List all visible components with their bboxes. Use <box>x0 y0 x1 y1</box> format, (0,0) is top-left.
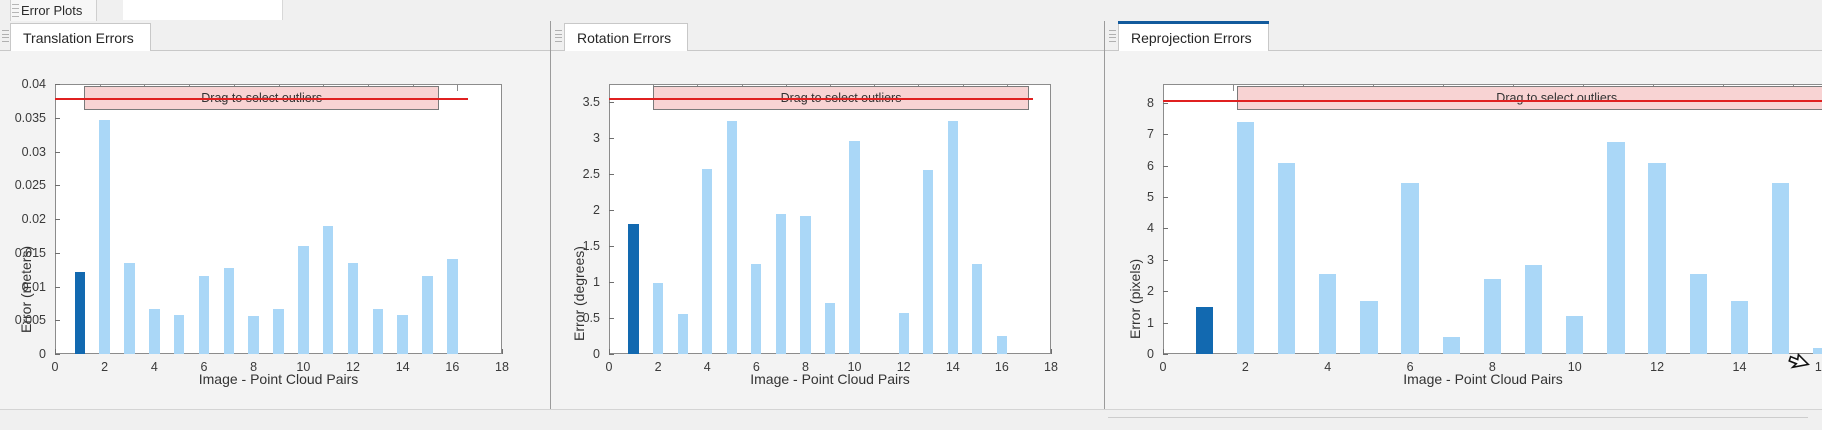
chart-3-y-tick-label: 0 <box>1105 347 1154 361</box>
chart-1-bar[interactable] <box>298 246 308 354</box>
chart-1-x-tick-label: 14 <box>396 360 410 374</box>
chart-2-y-tick-label: 3 <box>551 131 600 145</box>
chart-rotation-errors: Error (degrees) Image - Point Cloud Pair… <box>551 51 1104 409</box>
chart-2-x-tick-label: 8 <box>802 360 809 374</box>
chart-2-y-tick-mark <box>609 102 614 103</box>
tab-error-plots[interactable]: Error Plots <box>10 0 97 21</box>
tab-error-plots-label: Error Plots <box>21 3 82 18</box>
panel-1-tabrow: Translation Errors <box>0 21 550 51</box>
chart-2-y-tick-label: 3.5 <box>551 95 600 109</box>
chart-2-bar[interactable] <box>800 216 810 354</box>
tab-reprojection-errors-label: Reprojection Errors <box>1131 30 1252 46</box>
chart-3-bar[interactable] <box>1278 163 1295 354</box>
chart-3-bar[interactable] <box>1360 301 1377 354</box>
chart-2-bar[interactable] <box>751 264 761 354</box>
chart-1-bar[interactable] <box>323 226 333 354</box>
chart-2-x-tick-label: 14 <box>946 360 960 374</box>
chart-3-bar[interactable] <box>1484 279 1501 354</box>
chart-3-y-tick-mark <box>1163 103 1168 104</box>
chart-3-y-tick-label: 5 <box>1105 190 1154 204</box>
chart-3-y-tick-label: 1 <box>1105 316 1154 330</box>
chart-1-x-tick-label: 8 <box>250 360 257 374</box>
chart-2-y-tick-label: 0.5 <box>551 311 600 325</box>
panel-rotation-errors: Rotation Errors Error (degrees) Image - … <box>551 21 1105 409</box>
drag-grip-icon[interactable] <box>12 4 19 17</box>
chart-2-y-tick-label: 0 <box>551 347 600 361</box>
chart-2-x-tick-mark <box>1051 349 1052 354</box>
chart-2-bar[interactable] <box>972 264 982 354</box>
chart-3-x-tick-label: 0 <box>1160 360 1167 374</box>
chart-2-bar[interactable] <box>727 121 737 354</box>
error-plot-panels: Translation Errors Error (meters) Image … <box>0 21 1822 409</box>
chart-3-x-tick-mark <box>1163 349 1164 354</box>
chart-3-bar[interactable] <box>1690 274 1707 354</box>
chart-1-bar[interactable] <box>248 316 258 354</box>
chart-1-y-tick-mark <box>55 320 60 321</box>
chart-3-bar[interactable] <box>1319 274 1336 354</box>
chart-3-y-tick-mark <box>1163 166 1168 167</box>
chart-1-y-tick-label: 0.01 <box>0 280 46 294</box>
chart-3-y-tick-label: 6 <box>1105 159 1154 173</box>
chart-1-x-tick-label: 0 <box>52 360 59 374</box>
chart-3-y-tick-label: 2 <box>1105 284 1154 298</box>
chart-1-bar[interactable] <box>124 263 134 354</box>
chart-1-x-tick-label: 6 <box>201 360 208 374</box>
chart-3-x-axis-label: Image - Point Cloud Pairs <box>1163 371 1803 387</box>
bottom-strip <box>0 409 1822 430</box>
chart-1-bar[interactable] <box>199 276 209 354</box>
chart-3-y-tick-label: 4 <box>1105 221 1154 235</box>
chart-1-bar[interactable] <box>447 259 457 354</box>
chart-2-x-tick-label: 4 <box>704 360 711 374</box>
chart-3-x-tick-label: 10 <box>1568 360 1582 374</box>
chart-1-x-tick-mark <box>55 349 56 354</box>
chart-3-bar[interactable] <box>1648 163 1665 354</box>
chart-1-y-tick-label: 0.03 <box>0 145 46 159</box>
chart-2-y-tick-mark <box>609 354 614 355</box>
panel-reprojection-errors: Reprojection Errors Error (pixels) Image… <box>1105 21 1822 409</box>
tab-reprojection-errors[interactable]: Reprojection Errors <box>1118 23 1269 51</box>
chart-1-x-axis-label: Image - Point Cloud Pairs <box>55 371 502 387</box>
chart-2-bar[interactable] <box>702 169 712 354</box>
chart-3-x-tick-label: 12 <box>1650 360 1664 374</box>
mouse-cursor-icon <box>1786 352 1812 382</box>
chart-3-bar[interactable] <box>1813 348 1822 354</box>
horizontal-scrollbar[interactable] <box>1108 417 1808 425</box>
chart-1-x-tick-label: 4 <box>151 360 158 374</box>
chart-2-bar[interactable] <box>628 224 638 354</box>
chart-1-y-tick-label: 0.005 <box>0 313 46 327</box>
chart-1-threshold-line[interactable] <box>55 98 468 100</box>
tab-translation-errors-label: Translation Errors <box>23 30 134 46</box>
chart-3-bar[interactable] <box>1237 122 1254 354</box>
chart-2-y-tick-mark <box>609 318 614 319</box>
chart-2-bar[interactable] <box>899 313 909 354</box>
chart-1-y-tick-mark <box>55 253 60 254</box>
chart-2-x-tick-label: 6 <box>753 360 760 374</box>
chart-3-y-tick-label: 3 <box>1105 253 1154 267</box>
chart-3-bar[interactable] <box>1607 142 1624 354</box>
chart-2-x-axis-label: Image - Point Cloud Pairs <box>609 371 1051 387</box>
chart-3-x-tick-label: 8 <box>1489 360 1496 374</box>
chart-1-y-tick-mark <box>55 219 60 220</box>
tab-rotation-errors-label: Rotation Errors <box>577 30 671 46</box>
chart-reprojection-errors: Error (pixels) Image - Point Cloud Pairs… <box>1105 51 1822 409</box>
chart-1-bar[interactable] <box>397 315 407 354</box>
chart-1-bar[interactable] <box>99 120 109 354</box>
chart-1-y-tick-mark <box>55 118 60 119</box>
chart-1-y-tick-label: 0.02 <box>0 212 46 226</box>
chart-1-x-tick-label: 12 <box>346 360 360 374</box>
chart-1-bar[interactable] <box>273 309 283 354</box>
chart-2-x-tick-label: 0 <box>606 360 613 374</box>
error-plots-tabstrip: Error Plots <box>0 0 1822 21</box>
chart-2-x-tick-label: 12 <box>897 360 911 374</box>
chart-2-y-tick-mark <box>609 210 614 211</box>
chart-3-threshold-line[interactable] <box>1163 100 1822 102</box>
chart-3-bar[interactable] <box>1772 183 1789 354</box>
chart-3-bar[interactable] <box>1443 337 1460 354</box>
chart-1-bar[interactable] <box>348 263 358 354</box>
chart-3-x-tick-label: 4 <box>1324 360 1331 374</box>
chart-3-bar[interactable] <box>1731 301 1748 354</box>
chart-2-x-tick-label: 16 <box>995 360 1009 374</box>
chart-2-y-tick-mark <box>609 246 614 247</box>
chart-1-y-tick-label: 0.025 <box>0 178 46 192</box>
tab-rotation-errors[interactable]: Rotation Errors <box>564 23 688 51</box>
chart-2-y-tick-label: 1 <box>551 275 600 289</box>
chart-2-bar[interactable] <box>997 336 1007 354</box>
chart-3-y-tick-mark <box>1163 197 1168 198</box>
chart-1-x-tick-label: 18 <box>495 360 509 374</box>
chart-2-y-tick-label: 2.5 <box>551 167 600 181</box>
chart-translation-errors: Error (meters) Image - Point Cloud Pairs… <box>0 51 550 409</box>
chart-3-y-tick-mark <box>1163 291 1168 292</box>
chart-2-bar[interactable] <box>776 214 786 354</box>
chart-2-x-tick-label: 10 <box>848 360 862 374</box>
chart-1-x-tick-label: 16 <box>445 360 459 374</box>
chart-1-bar[interactable] <box>373 309 383 354</box>
chart-1-y-tick-mark <box>55 354 60 355</box>
panel-3-drag-grip-icon[interactable] <box>1109 30 1116 42</box>
chart-2-y-tick-mark <box>609 282 614 283</box>
panel-translation-errors: Translation Errors Error (meters) Image … <box>0 21 551 409</box>
chart-3-x-tick-label: 2 <box>1242 360 1249 374</box>
panel-2-drag-grip-icon[interactable] <box>555 30 562 42</box>
chart-2-x-tick-mark <box>609 349 610 354</box>
chart-3-x-tick-label: 14 <box>1733 360 1747 374</box>
chart-1-x-tick-label: 2 <box>101 360 108 374</box>
panel-3-tabrow: Reprojection Errors <box>1105 21 1822 51</box>
chart-2-x-tick-label: 18 <box>1044 360 1058 374</box>
chart-2-bar[interactable] <box>849 141 859 354</box>
chart-1-y-tick-mark <box>55 287 60 288</box>
chart-3-y-tick-mark <box>1163 354 1168 355</box>
chart-3-bar[interactable] <box>1566 316 1583 354</box>
chart-1-y-tick-label: 0 <box>0 347 46 361</box>
chart-3-y-tick-mark <box>1163 323 1168 324</box>
chart-3-bar[interactable] <box>1196 307 1213 354</box>
chart-2-y-tick-label: 2 <box>551 203 600 217</box>
chart-3-outlier-slider[interactable]: Drag to select outliers <box>1237 86 1822 110</box>
chart-1-bar[interactable] <box>75 272 85 354</box>
chart-2-bar[interactable] <box>678 314 688 354</box>
chart-3-x-tick-label: 6 <box>1407 360 1414 374</box>
panel-1-drag-grip-icon[interactable] <box>2 30 9 42</box>
chart-1-bar[interactable] <box>149 309 159 354</box>
chart-2-y-tick-label: 1.5 <box>551 239 600 253</box>
chart-3-y-tick-label: 8 <box>1105 96 1154 110</box>
chart-3-y-tick-mark <box>1163 260 1168 261</box>
chart-1-y-tick-mark <box>55 152 60 153</box>
chart-1-y-tick-label: 0.04 <box>0 77 46 91</box>
chart-1-x-tick-mark <box>502 349 503 354</box>
chart-2-y-tick-mark <box>609 138 614 139</box>
outer-tab-filler <box>123 0 283 20</box>
chart-3-bar[interactable] <box>1401 183 1418 354</box>
chart-2-y-tick-mark <box>609 174 614 175</box>
chart-2-bar[interactable] <box>653 283 663 354</box>
chart-1-y-tick-label: 0.035 <box>0 111 46 125</box>
chart-2-bar[interactable] <box>923 170 933 354</box>
chart-2-y-axis-label: Error (degrees) <box>571 246 587 341</box>
chart-3-y-tick-label: 7 <box>1105 127 1154 141</box>
chart-1-x-tick-label: 10 <box>296 360 310 374</box>
chart-3-x-tick-label: 16 <box>1815 360 1822 374</box>
chart-2-x-tick-label: 2 <box>655 360 662 374</box>
chart-1-y-tick-mark <box>55 185 60 186</box>
chart-1-bar[interactable] <box>174 315 184 354</box>
panel-2-tabrow: Rotation Errors <box>551 21 1104 51</box>
chart-1-bar[interactable] <box>224 268 234 354</box>
chart-3-y-tick-mark <box>1163 228 1168 229</box>
chart-3-y-tick-mark <box>1163 134 1168 135</box>
chart-1-y-tick-label: 0.015 <box>0 246 46 260</box>
chart-2-threshold-line[interactable] <box>609 98 1033 100</box>
chart-2-bar[interactable] <box>825 303 835 354</box>
chart-3-bar[interactable] <box>1525 265 1542 354</box>
tab-translation-errors[interactable]: Translation Errors <box>10 23 151 51</box>
chart-1-bar[interactable] <box>422 276 432 354</box>
chart-2-bar[interactable] <box>948 121 958 354</box>
